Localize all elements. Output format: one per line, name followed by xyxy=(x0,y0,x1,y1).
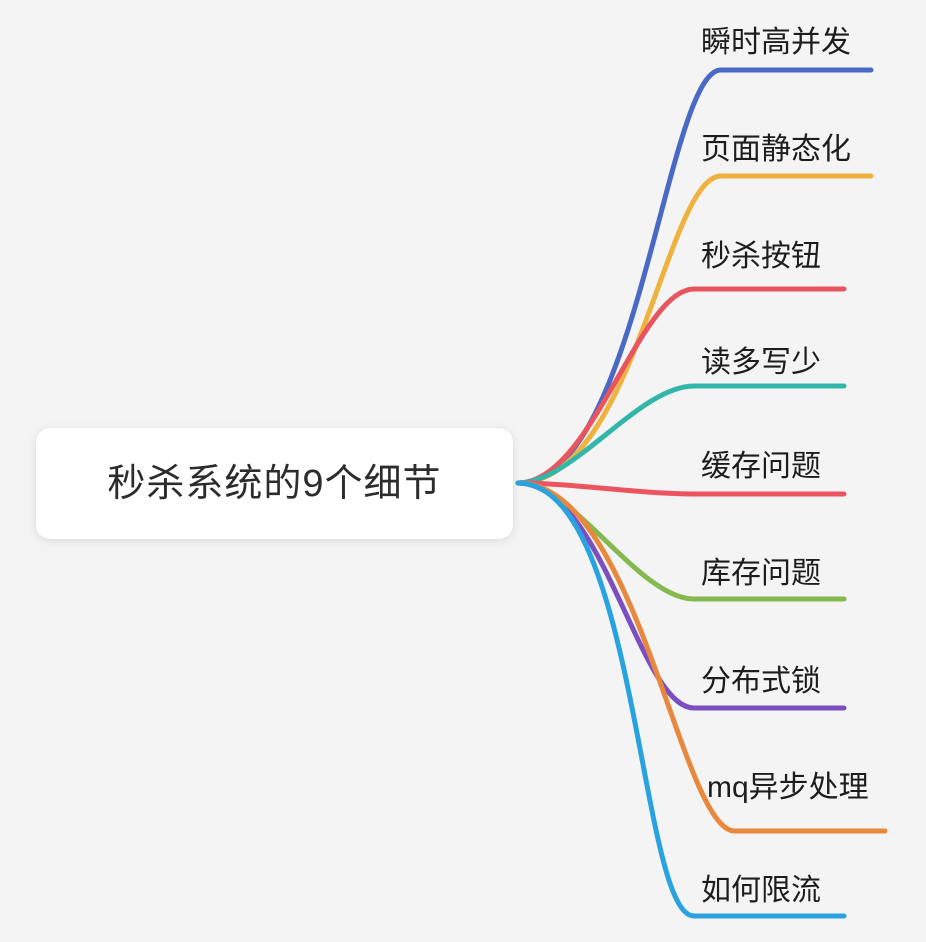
branch-label-3[interactable]: 秒杀按钮 xyxy=(701,242,821,272)
branch-curve-9[interactable] xyxy=(518,483,844,916)
branch-curve-5[interactable] xyxy=(518,483,844,494)
branch-label-1[interactable]: 瞬时高并发 xyxy=(701,28,851,58)
central-node[interactable]: 秒杀系统的9个细节 xyxy=(36,428,513,539)
branch-label-7[interactable]: 分布式锁 xyxy=(701,667,821,697)
branch-label-9[interactable]: 如何限流 xyxy=(701,876,821,906)
branch-label-4[interactable]: 读多写少 xyxy=(701,348,821,378)
mindmap-canvas: 秒杀系统的9个细节 瞬时高并发页面静态化秒杀按钮读多写少缓存问题库存问题分布式锁… xyxy=(0,0,926,942)
branch-label-6[interactable]: 库存问题 xyxy=(701,559,821,589)
branch-label-5[interactable]: 缓存问题 xyxy=(701,452,821,482)
branch-label-8[interactable]: mq异步处理 xyxy=(707,773,869,803)
branch-label-2[interactable]: 页面静态化 xyxy=(701,135,851,165)
branch-curve-1[interactable] xyxy=(518,70,871,483)
central-node-label: 秒杀系统的9个细节 xyxy=(107,465,441,503)
branch-curve-2[interactable] xyxy=(518,176,871,483)
